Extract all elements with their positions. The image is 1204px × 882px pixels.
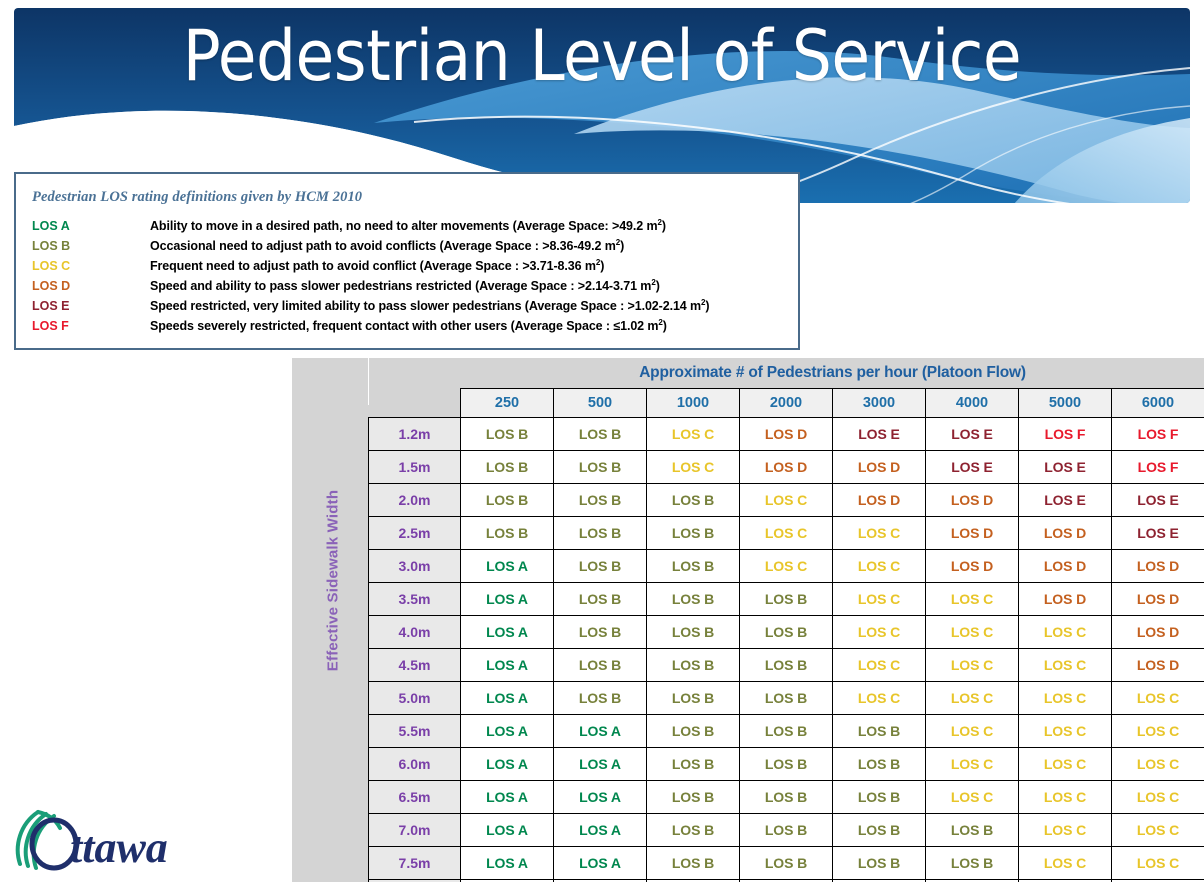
column-group-header: Approximate # of Pedestrians per hour (P… xyxy=(461,358,1204,389)
los-cell: LOS B xyxy=(926,814,1019,847)
los-cell: LOS B xyxy=(740,814,833,847)
table-row: 5.5mLOS ALOS ALOS BLOS BLOS BLOS CLOS CL… xyxy=(369,715,1204,748)
los-cell: LOS D xyxy=(740,451,833,484)
los-cell: LOS B xyxy=(740,616,833,649)
los-cell: LOS E xyxy=(1019,451,1112,484)
los-cell: LOS A xyxy=(461,814,554,847)
table-row: 4.0mLOS ALOS BLOS BLOS BLOS CLOS CLOS CL… xyxy=(369,616,1204,649)
column-header: 4000 xyxy=(926,389,1019,418)
los-cell: LOS D xyxy=(1112,649,1204,682)
los-cell: LOS A xyxy=(461,781,554,814)
los-cell: LOS B xyxy=(740,682,833,715)
legend-row: LOS AAbility to move in a desired path, … xyxy=(30,218,786,235)
los-cell: LOS A xyxy=(554,781,647,814)
legend-row: LOS FSpeeds severely restricted, frequen… xyxy=(30,318,786,335)
los-cell: LOS C xyxy=(833,517,926,550)
los-cell: LOS B xyxy=(647,748,740,781)
ottawa-logo: ttawa xyxy=(8,800,183,878)
los-cell: LOS C xyxy=(926,649,1019,682)
los-cell: LOS B xyxy=(740,847,833,880)
los-cell: LOS B xyxy=(461,517,554,550)
row-header: 3.5m xyxy=(369,583,461,616)
los-cell: LOS A xyxy=(554,814,647,847)
table-row: 7.5mLOS ALOS ALOS BLOS BLOS BLOS BLOS CL… xyxy=(369,847,1204,880)
los-cell: LOS E xyxy=(1112,484,1204,517)
los-cell: LOS E xyxy=(833,418,926,451)
los-cell: LOS C xyxy=(1019,616,1112,649)
los-cell: LOS C xyxy=(1112,781,1204,814)
los-cell: LOS A xyxy=(461,583,554,616)
los-cell: LOS D xyxy=(926,517,1019,550)
legend-description-tail: ) xyxy=(600,259,604,273)
row-header: 7.5m xyxy=(369,847,461,880)
los-cell: LOS C xyxy=(740,484,833,517)
table-row: 6.5mLOS ALOS ALOS BLOS BLOS BLOS CLOS CL… xyxy=(369,781,1204,814)
los-cell: LOS A xyxy=(461,715,554,748)
legend-row: LOS CFrequent need to adjust path to avo… xyxy=(30,258,786,275)
legend-description: Occasional need to adjust path to avoid … xyxy=(150,238,624,255)
los-cell: LOS B xyxy=(554,682,647,715)
legend-description: Speeds severely restricted, frequent con… xyxy=(150,318,667,335)
los-cell: LOS C xyxy=(926,715,1019,748)
row-header: 5.0m xyxy=(369,682,461,715)
row-header: 5.5m xyxy=(369,715,461,748)
los-cell: LOS E xyxy=(926,418,1019,451)
los-cell: LOS B xyxy=(740,781,833,814)
los-cell: LOS C xyxy=(1019,814,1112,847)
los-cell: LOS C xyxy=(1112,814,1204,847)
row-header: 3.0m xyxy=(369,550,461,583)
los-cell: LOS B xyxy=(740,715,833,748)
los-cell: LOS E xyxy=(1112,517,1204,550)
table-row: 1.2mLOS BLOS BLOS CLOS DLOS ELOS ELOS FL… xyxy=(369,418,1204,451)
legend-key: LOS A xyxy=(30,218,150,235)
legend-description-tail: ) xyxy=(656,279,660,293)
los-cell: LOS B xyxy=(461,451,554,484)
row-header: 1.5m xyxy=(369,451,461,484)
los-cell: LOS D xyxy=(1019,517,1112,550)
legend-description-text: Ability to move in a desired path, no ne… xyxy=(150,219,658,233)
los-cell: LOS A xyxy=(461,847,554,880)
los-cell: LOS C xyxy=(926,616,1019,649)
legend-description-tail: ) xyxy=(662,219,666,233)
los-cell: LOS B xyxy=(647,814,740,847)
table-group-header-row: Approximate # of Pedestrians per hour (P… xyxy=(369,358,1204,389)
table-body: 1.2mLOS BLOS BLOS CLOS DLOS ELOS ELOS FL… xyxy=(369,418,1204,882)
los-cell: LOS B xyxy=(647,517,740,550)
table-row: 1.5mLOS BLOS BLOS CLOS DLOS DLOS ELOS EL… xyxy=(369,451,1204,484)
column-header: 1000 xyxy=(647,389,740,418)
row-header: 4.5m xyxy=(369,649,461,682)
los-cell: LOS C xyxy=(1112,748,1204,781)
legend-description: Speed restricted, very limited ability t… xyxy=(150,298,709,315)
los-cell: LOS D xyxy=(833,484,926,517)
los-cell: LOS C xyxy=(1019,781,1112,814)
table-column-header-row: 250500100020003000400050006000 xyxy=(369,389,1204,418)
los-table-panel: Effective Sidewalk Width Approximate # o… xyxy=(292,358,1204,882)
los-cell: LOS B xyxy=(740,649,833,682)
legend-row: LOS DSpeed and ability to pass slower pe… xyxy=(30,278,786,295)
los-cell: LOS B xyxy=(833,847,926,880)
los-cell: LOS B xyxy=(833,814,926,847)
table-row: 2.0mLOS BLOS BLOS BLOS CLOS DLOS DLOS EL… xyxy=(369,484,1204,517)
legend-title: Pedestrian LOS rating definitions given … xyxy=(32,189,786,206)
los-cell: LOS D xyxy=(740,418,833,451)
los-cell: LOS D xyxy=(926,550,1019,583)
los-cell: LOS C xyxy=(833,616,926,649)
los-cell: LOS C xyxy=(926,583,1019,616)
los-cell: LOS B xyxy=(554,583,647,616)
ottawa-logo-text: ttawa xyxy=(70,823,168,872)
legend-description-tail: ) xyxy=(705,299,709,313)
los-cell: LOS A xyxy=(461,748,554,781)
los-cell: LOS C xyxy=(833,649,926,682)
table-row: 7.0mLOS ALOS ALOS BLOS BLOS BLOS BLOS CL… xyxy=(369,814,1204,847)
los-cell: LOS C xyxy=(1112,847,1204,880)
los-cell: LOS B xyxy=(647,715,740,748)
los-cell: LOS B xyxy=(833,715,926,748)
los-cell: LOS C xyxy=(1019,715,1112,748)
column-header: 3000 xyxy=(833,389,926,418)
los-cell: LOS C xyxy=(1019,682,1112,715)
los-cell: LOS A xyxy=(461,649,554,682)
legend-description-text: Speed restricted, very limited ability t… xyxy=(150,299,701,313)
legend-description-text: Frequent need to adjust path to avoid co… xyxy=(150,259,596,273)
legend-key: LOS C xyxy=(30,258,150,275)
los-cell: LOS D xyxy=(1019,583,1112,616)
legend-description-text: Speed and ability to pass slower pedestr… xyxy=(150,279,651,293)
los-cell: LOS D xyxy=(1112,550,1204,583)
legend-description: Ability to move in a desired path, no ne… xyxy=(150,218,666,235)
los-cell: LOS B xyxy=(740,748,833,781)
los-cell: LOS B xyxy=(554,484,647,517)
los-cell: LOS A xyxy=(554,715,647,748)
los-cell: LOS C xyxy=(1112,715,1204,748)
legend-description-tail: ) xyxy=(620,239,624,253)
los-cell: LOS B xyxy=(647,847,740,880)
legend-description-text: Speeds severely restricted, frequent con… xyxy=(150,319,658,333)
table-row: 6.0mLOS ALOS ALOS BLOS BLOS BLOS CLOS CL… xyxy=(369,748,1204,781)
legend-description: Frequent need to adjust path to avoid co… xyxy=(150,258,604,275)
los-cell: LOS B xyxy=(833,748,926,781)
table-row: 4.5mLOS ALOS BLOS BLOS BLOS CLOS CLOS CL… xyxy=(369,649,1204,682)
los-table: Approximate # of Pedestrians per hour (P… xyxy=(368,358,1204,882)
los-cell: LOS D xyxy=(926,484,1019,517)
los-cell: LOS B xyxy=(554,418,647,451)
los-cell: LOS F xyxy=(1112,451,1204,484)
table-row: 5.0mLOS ALOS BLOS BLOS BLOS CLOS CLOS CL… xyxy=(369,682,1204,715)
los-cell: LOS B xyxy=(647,682,740,715)
row-header: 2.0m xyxy=(369,484,461,517)
los-cell: LOS B xyxy=(647,583,740,616)
los-cell: LOS C xyxy=(833,583,926,616)
los-cell: LOS C xyxy=(647,418,740,451)
los-cell: LOS B xyxy=(554,517,647,550)
los-cell: LOS B xyxy=(461,418,554,451)
los-cell: LOS B xyxy=(554,616,647,649)
los-cell: LOS D xyxy=(833,451,926,484)
legend-key: LOS F xyxy=(30,318,150,335)
legend-key: LOS D xyxy=(30,278,150,295)
los-cell: LOS B xyxy=(926,847,1019,880)
los-cell: LOS B xyxy=(554,451,647,484)
row-header: 7.0m xyxy=(369,814,461,847)
table-row: 2.5mLOS BLOS BLOS BLOS CLOS CLOS DLOS DL… xyxy=(369,517,1204,550)
table-corner-cell xyxy=(369,358,461,389)
los-cell: LOS E xyxy=(1019,484,1112,517)
legend-row: LOS ESpeed restricted, very limited abil… xyxy=(30,298,786,315)
legend-description-text: Occasional need to adjust path to avoid … xyxy=(150,239,616,253)
column-header: 2000 xyxy=(740,389,833,418)
los-cell: LOS A xyxy=(554,748,647,781)
los-cell: LOS B xyxy=(461,484,554,517)
legend-key: LOS B xyxy=(30,238,150,255)
los-cell: LOS B xyxy=(647,649,740,682)
los-cell: LOS A xyxy=(461,550,554,583)
los-cell: LOS C xyxy=(1019,649,1112,682)
row-header: 4.0m xyxy=(369,616,461,649)
column-header: 500 xyxy=(554,389,647,418)
los-cell: LOS C xyxy=(926,682,1019,715)
los-cell: LOS C xyxy=(833,682,926,715)
los-cell: LOS C xyxy=(1019,748,1112,781)
los-cell: LOS A xyxy=(554,847,647,880)
page-title: Pedestrian Level of Service xyxy=(14,20,1190,94)
los-cell: LOS C xyxy=(1019,847,1112,880)
los-cell: LOS C xyxy=(1112,682,1204,715)
los-cell: LOS D xyxy=(1112,583,1204,616)
los-cell: LOS B xyxy=(647,484,740,517)
los-cell: LOS C xyxy=(833,550,926,583)
los-cell: LOS F xyxy=(1112,418,1204,451)
los-cell: LOS C xyxy=(647,451,740,484)
los-cell: LOS C xyxy=(926,748,1019,781)
ottawa-logo-icon: ttawa xyxy=(8,800,183,878)
row-axis-label: Effective Sidewalk Width xyxy=(325,456,342,706)
los-cell: LOS C xyxy=(926,781,1019,814)
los-cell: LOS B xyxy=(554,649,647,682)
los-cell: LOS C xyxy=(740,550,833,583)
los-cell: LOS D xyxy=(1112,616,1204,649)
los-cell: LOS B xyxy=(647,781,740,814)
table-row: 3.0mLOS ALOS BLOS BLOS CLOS CLOS DLOS DL… xyxy=(369,550,1204,583)
column-header: 5000 xyxy=(1019,389,1112,418)
table-corner-cell-2 xyxy=(369,389,461,418)
los-cell: LOS B xyxy=(647,550,740,583)
los-cell: LOS A xyxy=(461,682,554,715)
table-row: 3.5mLOS ALOS BLOS BLOS BLOS CLOS CLOS DL… xyxy=(369,583,1204,616)
los-cell: LOS F xyxy=(1019,418,1112,451)
los-cell: LOS C xyxy=(740,517,833,550)
column-header: 6000 xyxy=(1112,389,1204,418)
legend-box: Pedestrian LOS rating definitions given … xyxy=(14,172,800,350)
legend-description-tail: ) xyxy=(663,319,667,333)
legend-row: LOS BOccasional need to adjust path to a… xyxy=(30,238,786,255)
legend-rows: LOS AAbility to move in a desired path, … xyxy=(30,218,786,335)
legend-description: Speed and ability to pass slower pedestr… xyxy=(150,278,660,295)
los-cell: LOS A xyxy=(461,616,554,649)
los-cell: LOS B xyxy=(647,616,740,649)
row-header: 2.5m xyxy=(369,517,461,550)
legend-key: LOS E xyxy=(30,298,150,315)
row-header: 6.5m xyxy=(369,781,461,814)
row-axis-column: Effective Sidewalk Width xyxy=(292,358,368,882)
los-cell: LOS E xyxy=(926,451,1019,484)
row-header: 6.0m xyxy=(369,748,461,781)
los-cell: LOS B xyxy=(554,550,647,583)
los-cell: LOS B xyxy=(740,583,833,616)
column-header: 250 xyxy=(461,389,554,418)
slide: Pedestrian Level of Service Pedestrian L… xyxy=(0,0,1204,882)
los-cell: LOS D xyxy=(1019,550,1112,583)
row-header: 1.2m xyxy=(369,418,461,451)
los-cell: LOS B xyxy=(833,781,926,814)
